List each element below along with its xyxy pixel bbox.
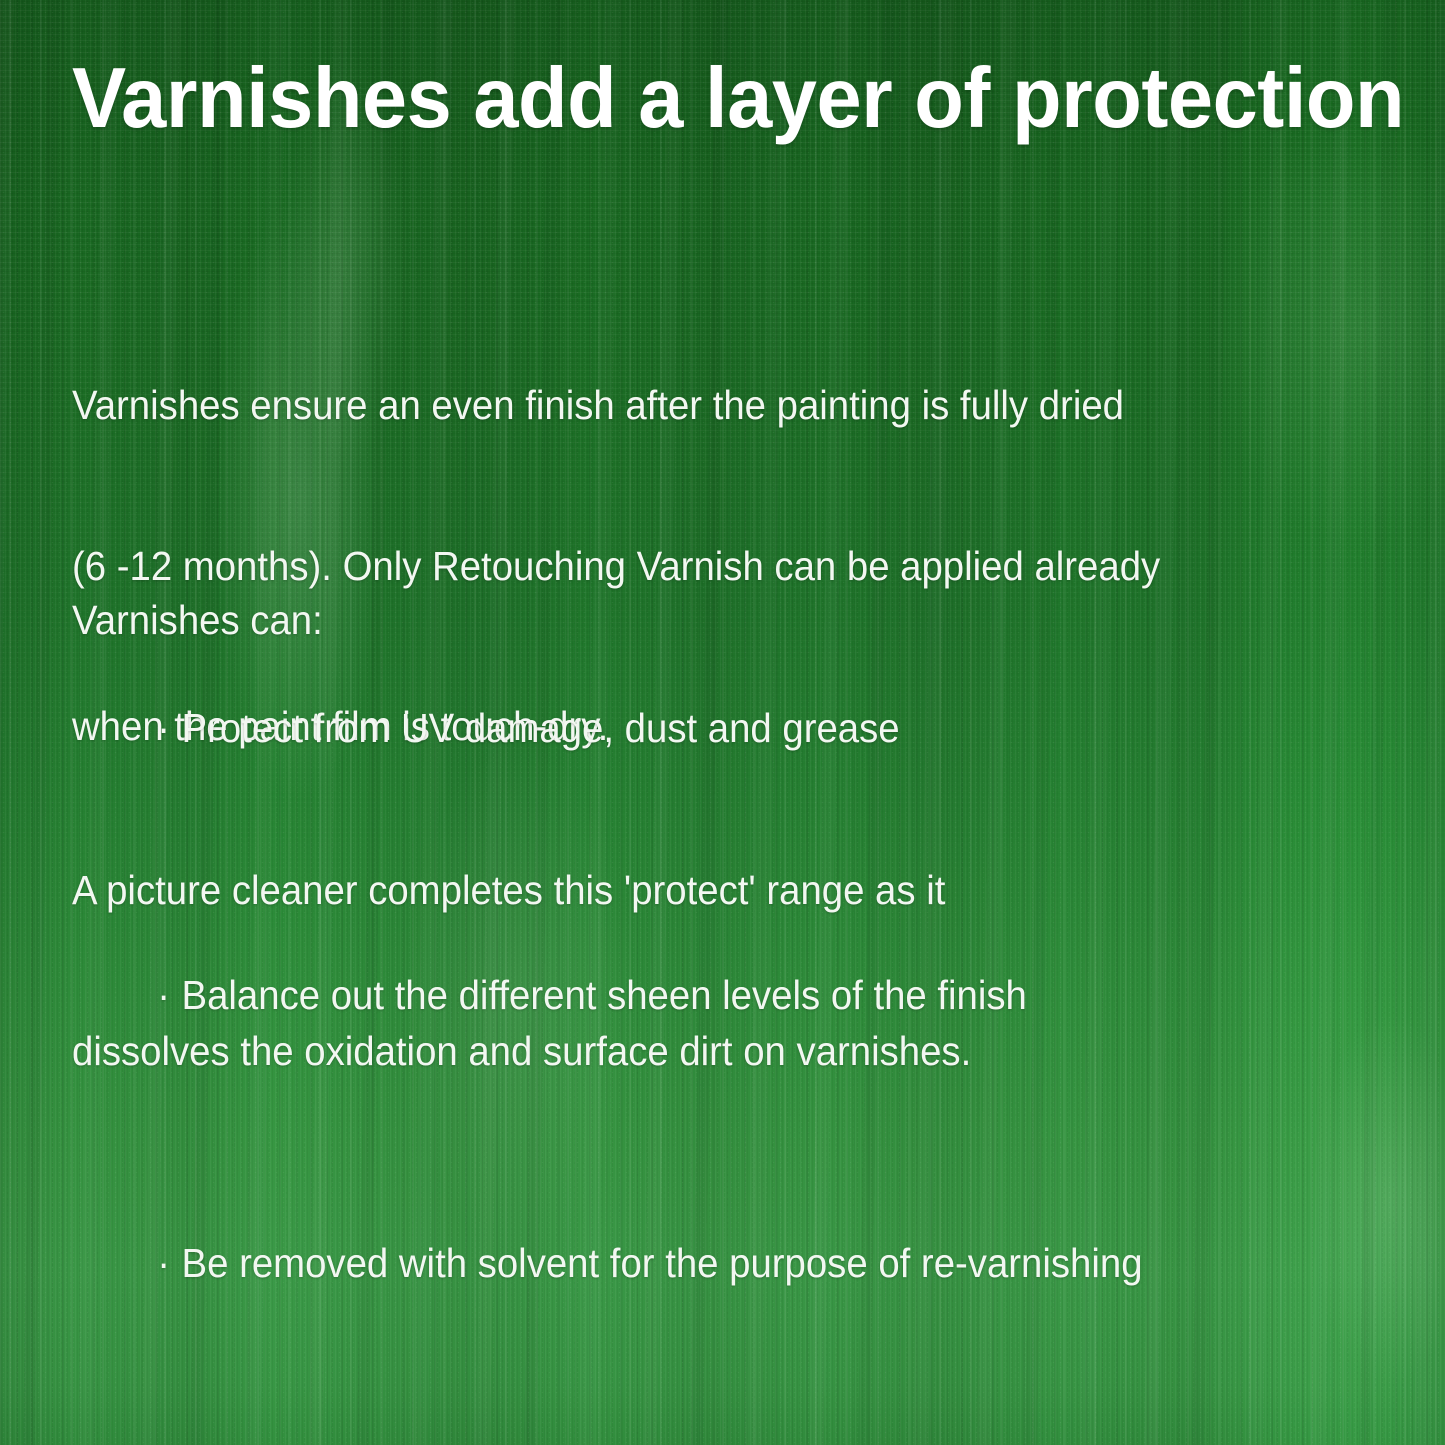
bullet-dot-icon: · (157, 702, 181, 756)
list-item-label: Protect from UV damage, dust and grease (182, 705, 900, 751)
varnish-info-card: Varnishes add a layer of protection Varn… (0, 0, 1445, 1445)
closing-paragraph-line: dissolves the oxidation and surface dirt… (72, 1025, 971, 1079)
bullet-dot-icon: · (157, 1237, 181, 1291)
closing-paragraph: A picture cleaner completes this 'protec… (72, 757, 971, 1185)
page-title: Varnishes add a layer of protection (72, 56, 1404, 141)
list-item: ·Be removed with solvent for the purpose… (72, 1183, 1143, 1344)
intro-paragraph-line: Varnishes ensure an even finish after th… (72, 379, 1160, 433)
closing-paragraph-line: A picture cleaner completes this 'protec… (72, 864, 971, 918)
list-item-label: Be removed with solvent for the purpose … (182, 1240, 1143, 1286)
content-area: Varnishes add a layer of protection Varn… (72, 0, 1392, 1445)
